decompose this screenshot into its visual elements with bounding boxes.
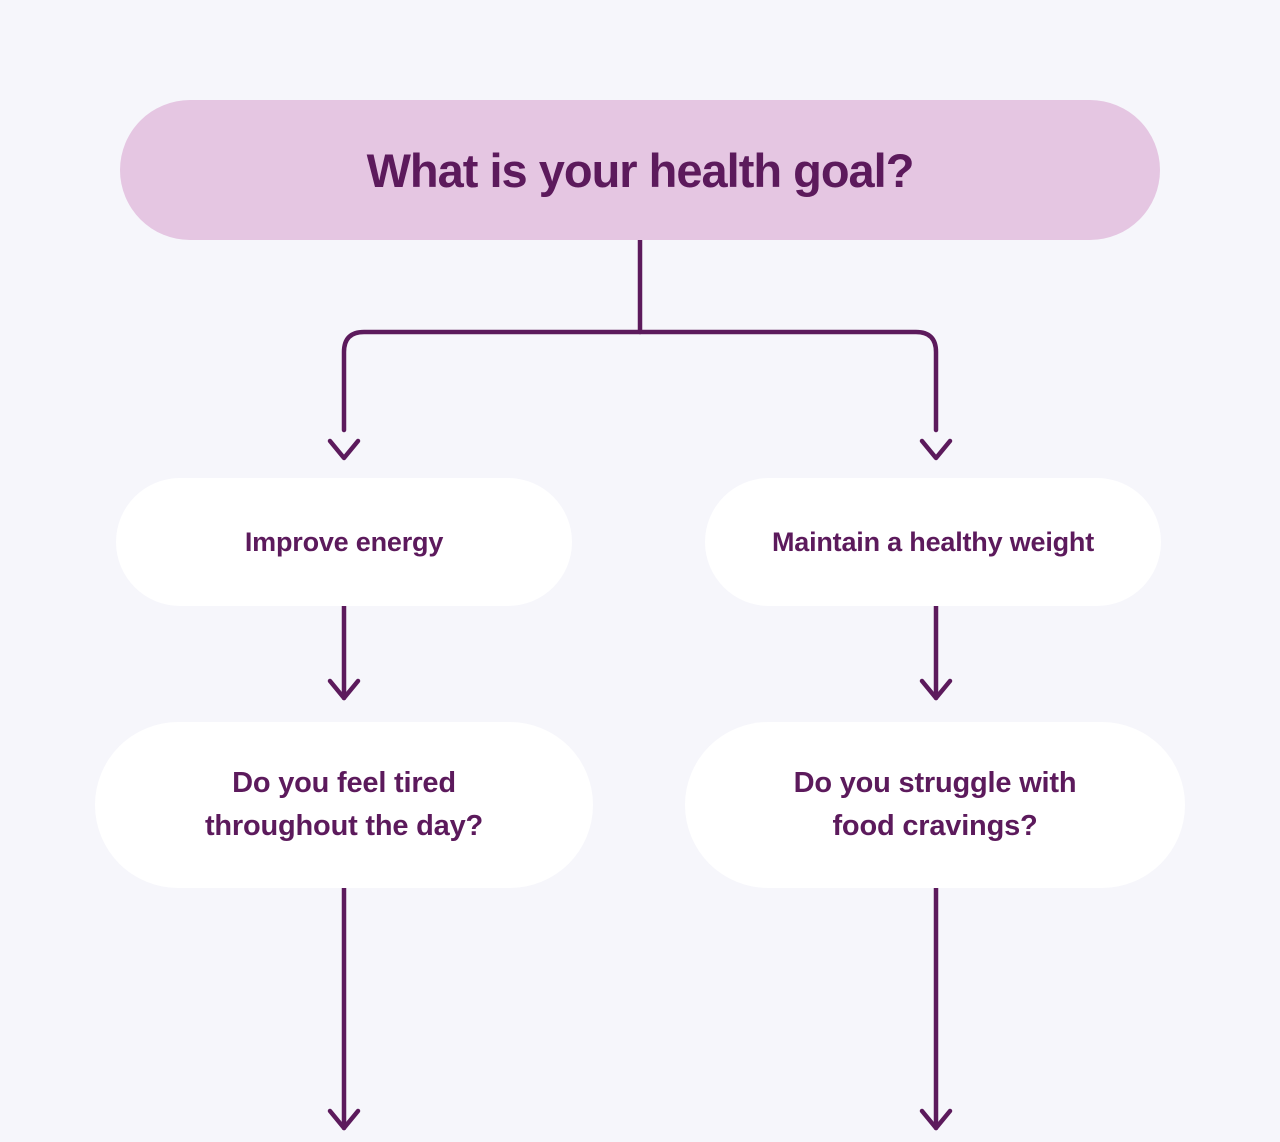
- node-root-question[interactable]: What is your health goal?: [120, 100, 1160, 240]
- node-cravings-question-label: Do you struggle with food cravings?: [776, 762, 1095, 848]
- node-maintain-healthy-weight[interactable]: Maintain a healthy weight: [705, 478, 1161, 606]
- node-tired-question-label: Do you feel tired throughout the day?: [187, 762, 501, 848]
- arrowhead-to-improve-energy: [330, 441, 358, 458]
- flowchart-canvas: What is your health goal? Improve energy…: [0, 0, 1280, 1142]
- node-improve-energy[interactable]: Improve energy: [116, 478, 572, 606]
- node-tired-question[interactable]: Do you feel tired throughout the day?: [95, 722, 593, 888]
- node-maintain-healthy-weight-label: Maintain a healthy weight: [754, 527, 1112, 558]
- node-root-question-label: What is your health goal?: [349, 143, 932, 198]
- connector-split-bar: [344, 332, 936, 430]
- node-cravings-question[interactable]: Do you struggle with food cravings?: [685, 722, 1185, 888]
- arrowhead-to-maintain-weight: [922, 441, 950, 458]
- node-improve-energy-label: Improve energy: [227, 527, 461, 558]
